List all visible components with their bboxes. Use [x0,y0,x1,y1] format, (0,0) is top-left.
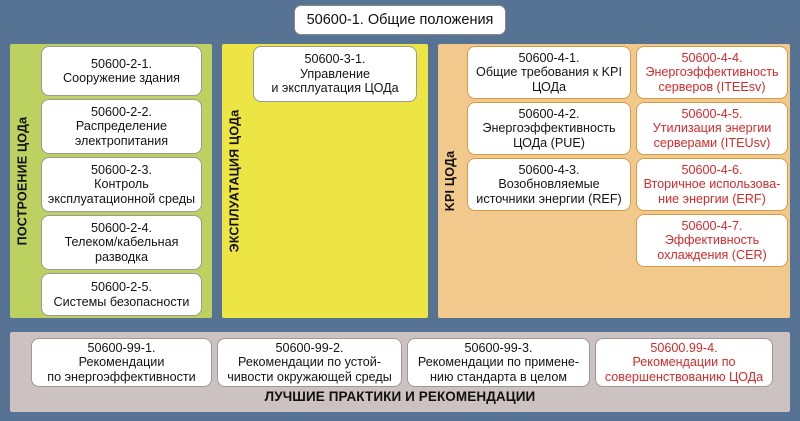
item-line2: Рекомендации по устой- [227,355,392,369]
item-50600-2-5[interactable]: 50600-2-5. Системы безопасности [41,273,202,316]
column-construction-label: ПОСТРОЕНИЕ ЦОДа [10,44,34,318]
diagram-canvas: 50600-1. Общие положения ПОСТРОЕНИЕ ЦОДа… [0,0,800,421]
item-50600-4-2[interactable]: 50600-4-2. Энергоэффективность ЦОДа (PUE… [467,102,631,155]
item-line2: Телеком/кабельная [65,235,179,249]
item-line3: охлаждения (CER) [657,248,767,262]
item-50600-4-6[interactable]: 50600-4-6. Вторичное использова- ние эне… [636,158,788,211]
item-50600-2-2[interactable]: 50600-2-2. Распределение электропитания [41,99,202,154]
item-line3: нию стандарта в целом [418,370,579,384]
item-50600-4-3[interactable]: 50600-4-3. Возобновляемые источники энер… [467,158,631,211]
item-line2: Сооружение здания [63,71,180,85]
item-code: 50600-99-2. [227,341,392,355]
item-line3: по энергоэффективности [47,370,195,384]
item-line2: Управление [271,67,398,81]
item-line2: Системы безопасности [54,295,190,309]
diagram-title-label: 50600-1. Общие положения [307,12,494,28]
item-line2: Рекомендации [47,355,195,369]
item-50600-4-4[interactable]: 50600-4-4. Энергоэффективность серверов … [636,46,788,99]
item-50600-99-1[interactable]: 50600-99-1. Рекомендации по энергоэффект… [31,338,212,387]
item-line2: Контроль [48,177,195,191]
item-code: 50600-2-1. [63,57,180,71]
item-50600-2-3[interactable]: 50600-2-3. Контроль эксплуатационной сре… [41,157,202,212]
item-50600-4-5[interactable]: 50600-4-5. Утилизация энергии серверами … [636,102,788,155]
column-kpi: KPI ЦОДа 50600-4-1. Общие требования к K… [438,44,790,318]
item-code: 50600-4-4. [645,51,778,65]
item-line2: Распределение [75,119,168,133]
item-line2: Рекомендации по [605,355,763,369]
item-line3: эксплуатационной среды [48,192,195,206]
panel-best-practices: 50600-99-1. Рекомендации по энергоэффект… [10,332,790,412]
item-line2: Рекомендации по примене- [418,355,579,369]
item-code: 50600-2-5. [54,280,190,294]
item-line3: серверов (ITEEsv) [645,80,778,94]
item-line2: Возобновляемые [476,177,621,191]
item-line3: и эксплуатация ЦОДа [271,81,398,95]
item-code: 50600-99-3. [418,341,579,355]
column-construction: ПОСТРОЕНИЕ ЦОДа 50600-2-1. Сооружение зд… [10,44,212,318]
item-code: 50600-2-2. [75,105,168,119]
item-code: 50600-4-3. [476,163,621,177]
item-code: 50600.99-4. [605,341,763,355]
item-code: 50600-4-1. [476,51,622,65]
item-line3: электропитания [75,134,168,148]
item-50600-4-7[interactable]: 50600-4-7. Эффективность охлаждения (CER… [636,214,788,267]
item-line3: серверами (ITEUsv) [653,136,772,150]
item-line3: источники энергии (REF) [476,192,621,206]
item-code: 50600-2-3. [48,163,195,177]
item-code: 50600-2-4. [65,221,179,235]
item-50600-99-3[interactable]: 50600-99-3. Рекомендации по примене- нию… [407,338,590,387]
item-line2: Эффективность [657,233,767,247]
item-50600-99-2[interactable]: 50600-99-2. Рекомендации по устой- чивос… [217,338,402,387]
item-50600-99-4[interactable]: 50600.99-4. Рекомендации по совершенство… [595,338,773,387]
item-code: 50600-99-1. [47,341,195,355]
best-practices-caption: ЛУЧШИЕ ПРАКТИКИ И РЕКОМЕНДАЦИИ [10,389,790,404]
item-line2: Общие требования к KPI [476,65,622,79]
item-code: 50600-4-2. [482,107,615,121]
item-line3: чивости окружающей среды [227,370,392,384]
item-line2: Энергоэффективность [645,65,778,79]
item-code: 50600-3-1. [271,52,398,66]
item-line3: разводка [65,250,179,264]
item-line3: ние энергии (ERF) [644,192,781,206]
column-operation-label: ЭКСПЛУАТАЦИЯ ЦОДа [222,44,246,318]
item-line2: Вторичное использова- [644,177,781,191]
item-line3: ЦОДа (PUE) [482,136,615,150]
item-50600-4-1[interactable]: 50600-4-1. Общие требования к KPI ЦОДа [467,46,631,99]
item-line2: Утилизация энергии [653,121,772,135]
item-50600-2-4[interactable]: 50600-2-4. Телеком/кабельная разводка [41,215,202,270]
column-operation: ЭКСПЛУАТАЦИЯ ЦОДа 50600-3-1. Управление … [222,44,428,318]
item-50600-3-1[interactable]: 50600-3-1. Управление и эксплуатация ЦОД… [253,46,417,102]
item-code: 50600-4-5. [653,107,772,121]
item-code: 50600-4-6. [644,163,781,177]
column-kpi-label: KPI ЦОДа [438,44,462,318]
item-50600-2-1[interactable]: 50600-2-1. Сооружение здания [41,46,202,96]
item-line3: совершенствованию ЦОДа [605,370,763,384]
item-line2: Энергоэффективность [482,121,615,135]
item-code: 50600-4-7. [657,219,767,233]
item-line3: ЦОДа [476,80,622,94]
diagram-title-box: 50600-1. Общие положения [294,5,506,35]
